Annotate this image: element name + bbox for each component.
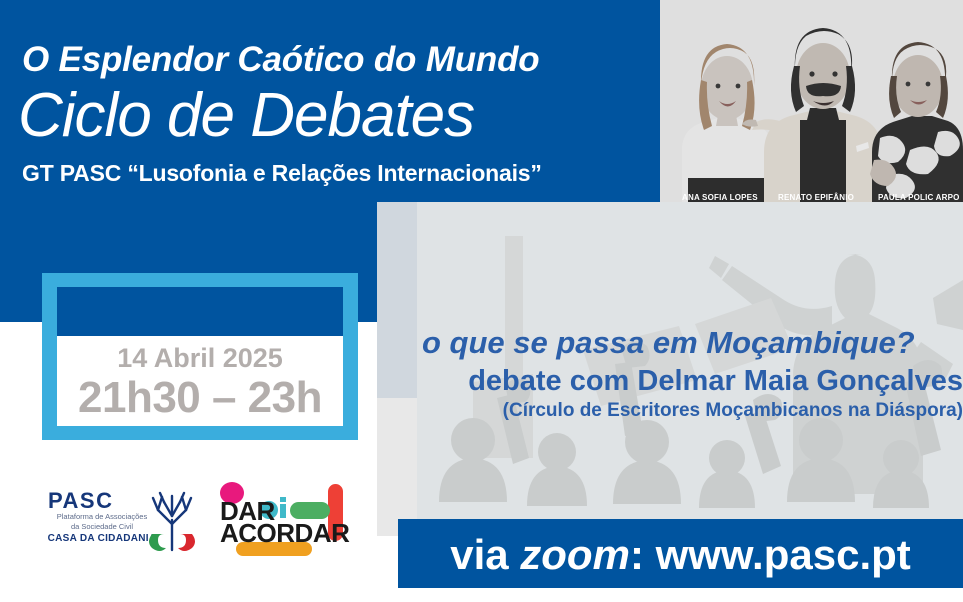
speaker-name-1: ANA SOFIA LOPES <box>682 193 758 202</box>
pasc-logo-title: PASC <box>48 488 114 514</box>
zoom-suffix: : www.pasc.pt <box>630 531 911 578</box>
zoom-emphasis: zoom <box>520 531 630 578</box>
speakers-photo: ANA SOFIA LOPES RENATO EPIFÂNIO PAULA PO… <box>660 0 963 205</box>
panel-question: o que se passa em Moçambique? <box>422 325 963 361</box>
dar-logo-line2: ACORDAR <box>220 518 349 549</box>
zoom-link-bar[interactable]: via zoom: www.pasc.pt <box>398 519 963 588</box>
speakers-photo-illustration <box>660 0 963 205</box>
date-frame: 14 Abril 2025 21h30 – 23h <box>42 273 358 440</box>
zoom-link-text[interactable]: via zoom: www.pasc.pt <box>398 531 963 579</box>
zoom-prefix: via <box>450 531 520 578</box>
dar-acordar-logo: DAR ACORDAR <box>206 474 356 554</box>
panel-subtitle: debate com Delmar Maia Gonçalves <box>422 365 963 398</box>
event-date: 14 Abril 2025 <box>57 343 343 374</box>
dar-letter-i-stem-icon <box>280 504 286 518</box>
panel-affiliation: (Círculo de Escritores Moçambicanos na D… <box>422 400 963 422</box>
date-inner-top-fill <box>57 287 343 336</box>
event-time: 21h30 – 23h <box>57 373 343 423</box>
poster-group-line: GT PASC “Lusofonia e Relações Internacio… <box>22 160 642 187</box>
speaker-name-2: RENATO EPIFÂNIO <box>778 193 854 202</box>
page-title: Ciclo de Debates <box>18 80 658 151</box>
poster-subtitle-top: O Esplendor Caótico do Mundo <box>22 40 642 80</box>
pasc-logo: PASC Plataforma de Associações da Socied… <box>28 478 198 554</box>
poster-root: O Esplendor Caótico do Mundo Ciclo de De… <box>0 0 963 602</box>
date-inner-box: 14 Abril 2025 21h30 – 23h <box>57 287 343 426</box>
dar-letter-i-dot-icon <box>280 497 286 502</box>
tree-icon <box>144 490 200 552</box>
logos-strip: PASC Plataforma de Associações da Socied… <box>0 462 377 572</box>
speaker-name-3: PAULA POLIC ARPO <box>878 193 960 202</box>
dar-green-bar-icon <box>290 502 330 519</box>
